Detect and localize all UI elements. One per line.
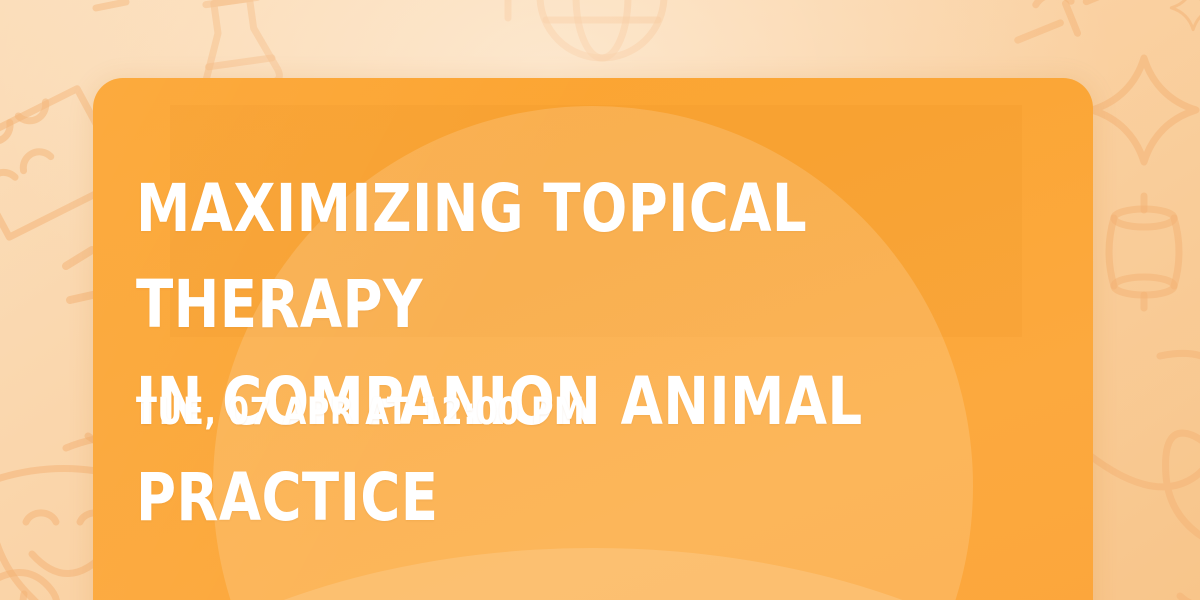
sparkle-icon (1092, 58, 1196, 162)
sparkle-small-icon (1171, 0, 1200, 30)
confetti-icon (1006, 0, 1125, 55)
event-datetime: TUE, 07 APR AT 12:00 PM (136, 390, 585, 434)
event-banner: MAXIMIZING TOPICAL THERAPY IN COMPANION … (0, 0, 1200, 600)
swirl-icon (1078, 353, 1200, 600)
event-title: MAXIMIZING TOPICAL THERAPY IN COMPANION … (136, 161, 980, 546)
lantern-icon (1109, 196, 1179, 308)
card-content: MAXIMIZING TOPICAL THERAPY IN COMPANION … (133, 78, 1053, 600)
swirl-small-icon (0, 572, 57, 600)
globe-icon (540, 0, 664, 58)
event-card[interactable]: MAXIMIZING TOPICAL THERAPY IN COMPANION … (93, 78, 1093, 600)
